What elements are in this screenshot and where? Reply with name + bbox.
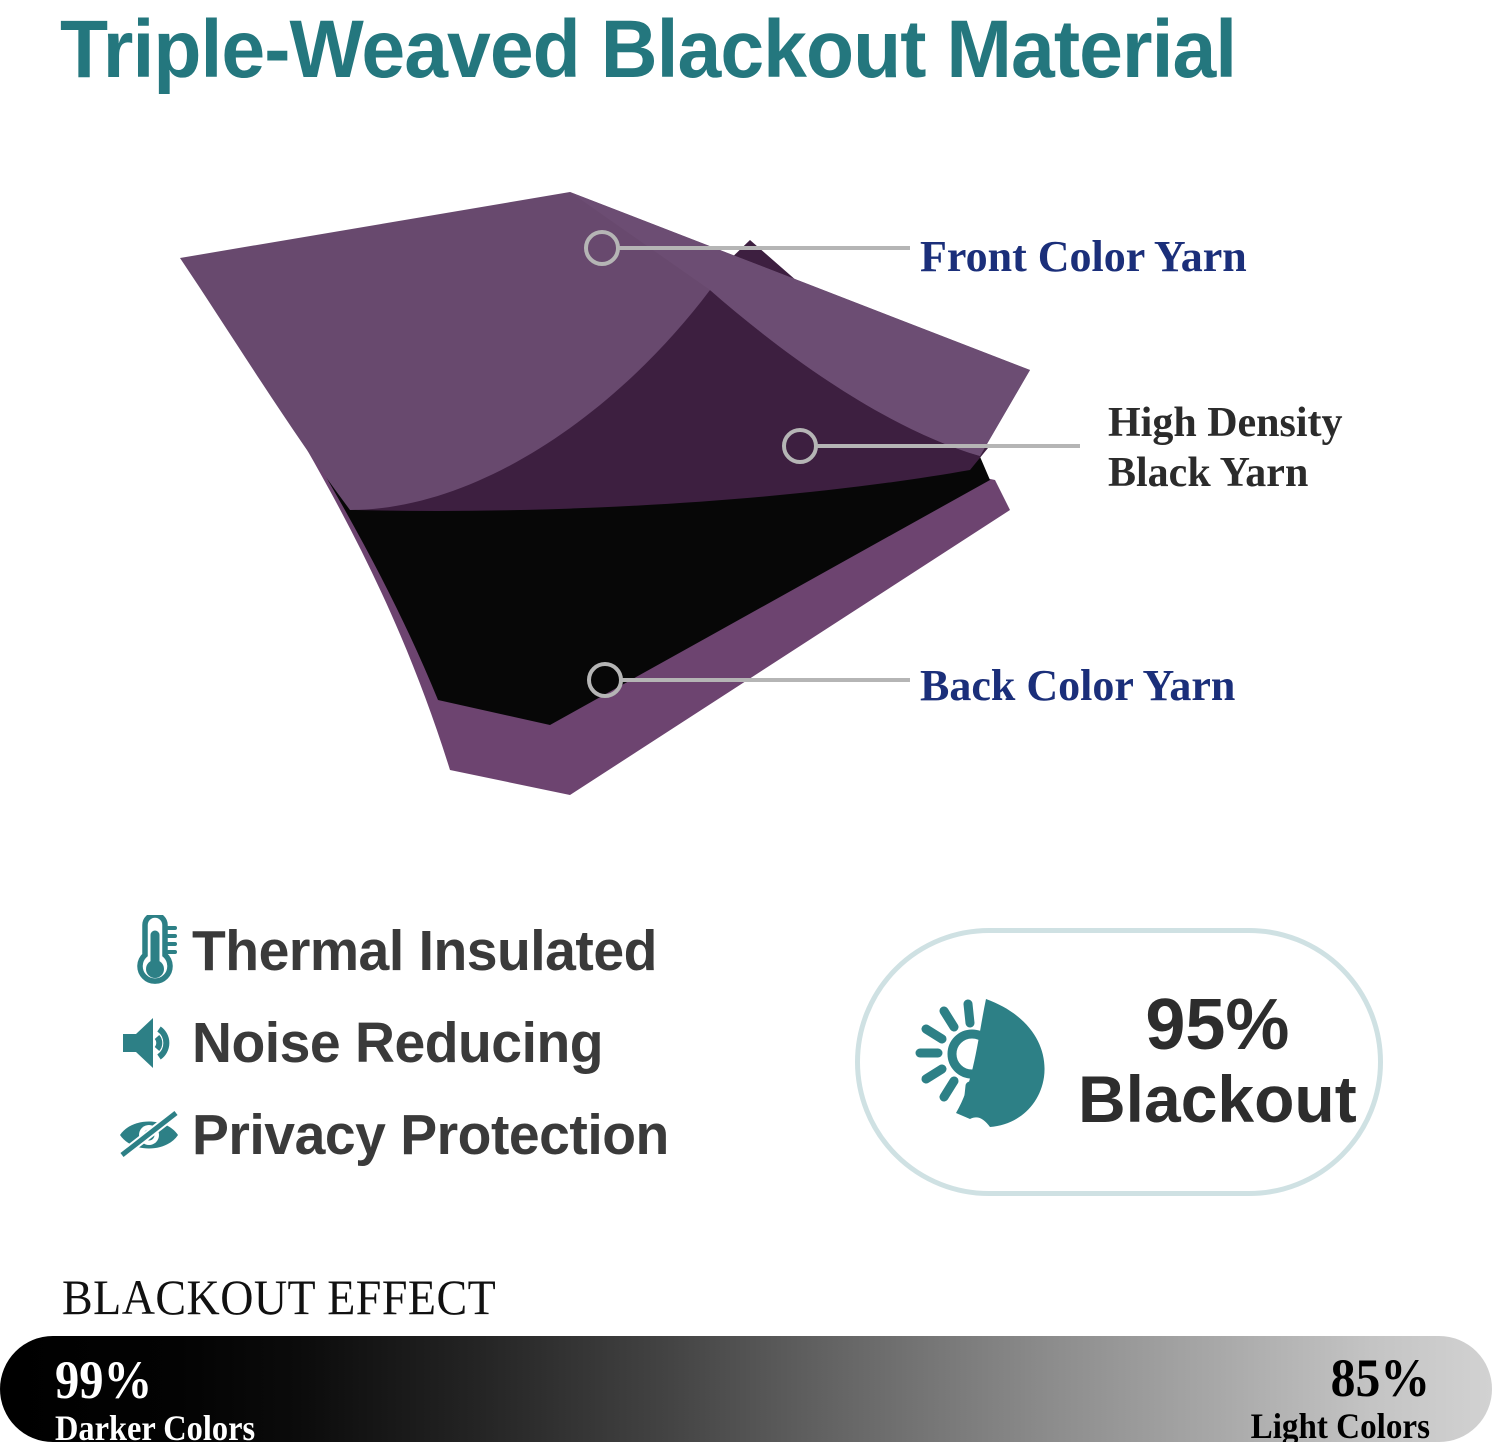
feature-label-noise-reducing: Noise Reducing	[192, 1013, 603, 1073]
darker-colors-percent: 99%	[55, 1352, 255, 1408]
sun-blocked-icon	[888, 987, 1078, 1137]
callout-black-line1: High Density	[1108, 398, 1343, 448]
thermometer-icon	[108, 915, 192, 987]
eye-slash-icon	[108, 1107, 192, 1163]
blackout-effect-right-stat: 85% Light Colors	[1251, 1350, 1430, 1442]
feature-item-privacy-protection: Privacy Protection	[108, 1089, 808, 1181]
feature-label-thermal-insulated: Thermal Insulated	[192, 921, 657, 981]
blackout-effect-heading: BLACKOUT EFFECT	[62, 1268, 496, 1326]
light-colors-percent: 85%	[1251, 1350, 1430, 1406]
blackout-word: Blackout	[1078, 1062, 1357, 1136]
feature-list: Thermal Insulated Noise Reducing Privacy…	[108, 905, 808, 1181]
light-colors-label: Light Colors	[1251, 1406, 1430, 1442]
blackout-badge: 95% Blackout	[855, 928, 1383, 1196]
blackout-badge-text: 95% Blackout	[1078, 988, 1381, 1136]
blackout-percent: 95%	[1078, 988, 1357, 1062]
feature-item-noise-reducing: Noise Reducing	[108, 997, 808, 1089]
callout-black-line2: Black Yarn	[1108, 448, 1343, 498]
callout-label-back-color-yarn: Back Color Yarn	[920, 660, 1235, 711]
speaker-sound-icon	[108, 1013, 192, 1073]
fabric-layers-diagram	[150, 180, 1450, 820]
page-title: Triple-Weaved Blackout Material	[60, 2, 1404, 98]
darker-colors-label: Darker Colors	[55, 1408, 255, 1442]
feature-label-privacy-protection: Privacy Protection	[192, 1105, 669, 1165]
feature-item-thermal-insulated: Thermal Insulated	[108, 905, 808, 997]
blackout-effect-left-stat: 99% Darker Colors	[55, 1352, 255, 1442]
callout-label-front-color-yarn: Front Color Yarn	[920, 231, 1247, 282]
blackout-effect-gradient-bar: 99% Darker Colors 85% Light Colors	[0, 1336, 1492, 1442]
callout-label-high-density-black-yarn: High Density Black Yarn	[1108, 398, 1343, 498]
